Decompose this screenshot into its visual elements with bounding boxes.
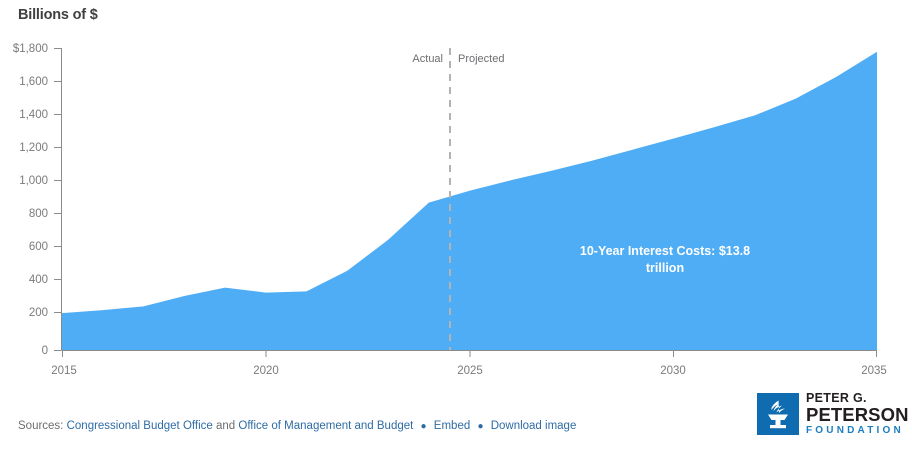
logo-line-peter-g: PETER G. xyxy=(806,392,909,405)
x-axis-ticks xyxy=(63,351,877,358)
x-tick-label: 2035 xyxy=(861,365,887,377)
annotation-line-2: trillion xyxy=(646,261,684,275)
y-tick-label: 800 xyxy=(29,208,48,220)
bullet-separator: ● xyxy=(477,421,483,432)
area-chart-plot: $1,800 1,600 1,400 1,200 1,000 800 600 4… xyxy=(0,0,912,390)
peterson-foundation-logo: PETER G. PETERSON FOUNDATION xyxy=(757,391,897,437)
sources-conjunction: and xyxy=(216,420,235,432)
source-link-omb[interactable]: Office of Management and Budget xyxy=(238,420,413,432)
torch-icon xyxy=(757,393,799,435)
y-tick-label: 1,200 xyxy=(19,142,48,154)
logo-line-peterson: PETERSON xyxy=(806,406,909,425)
divider-label-projected: Projected xyxy=(458,53,504,65)
y-tick-label: 0 xyxy=(42,345,48,357)
x-tick-label: 2015 xyxy=(51,365,77,377)
x-tick-label: 2030 xyxy=(660,365,686,377)
y-tick-label: 200 xyxy=(29,307,48,319)
y-tick-label: 1,400 xyxy=(19,109,48,121)
divider-label-actual: Actual xyxy=(412,53,443,65)
embed-link[interactable]: Embed xyxy=(434,420,470,432)
logo-line-foundation: FOUNDATION xyxy=(806,426,909,436)
source-link-cbo[interactable]: Congressional Budget Office xyxy=(67,420,213,432)
x-tick-label: 2025 xyxy=(457,365,483,377)
y-axis-ticks xyxy=(54,49,61,351)
area-series-net-interest xyxy=(62,52,877,351)
y-tick-label: 600 xyxy=(29,241,48,253)
y-tick-label: $1,800 xyxy=(13,43,48,55)
annotation-line-1: 10-Year Interest Costs: $13.8 xyxy=(580,244,750,258)
sources-prefix: Sources: xyxy=(18,420,63,432)
bullet-separator: ● xyxy=(421,421,427,432)
torch-icon-glyph xyxy=(757,393,799,435)
chart-container: Billions of $ $1,800 1,600 1,400 1,200 1… xyxy=(0,0,912,449)
logo-wordmark: PETER G. PETERSON FOUNDATION xyxy=(806,392,909,436)
x-tick-label: 2020 xyxy=(253,365,279,377)
footer-sources: Sources: Congressional Budget Office and… xyxy=(18,420,576,432)
y-tick-label: 1,600 xyxy=(19,76,48,88)
y-tick-label: 400 xyxy=(29,274,48,286)
download-image-link[interactable]: Download image xyxy=(491,420,577,432)
y-tick-label: 1,000 xyxy=(19,175,48,187)
